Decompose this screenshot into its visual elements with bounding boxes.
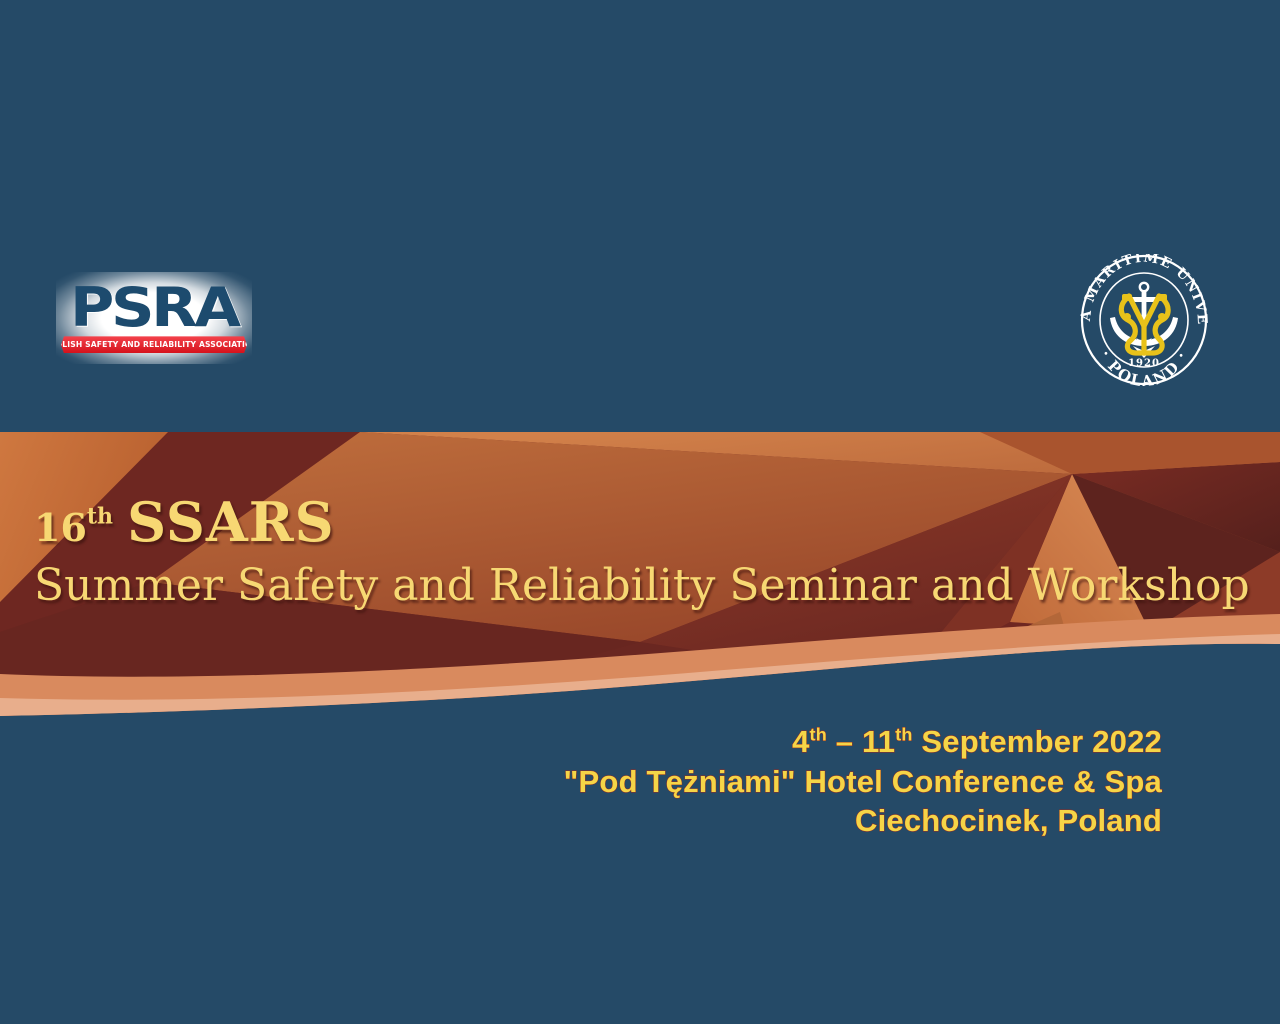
venue-hotel: "Pod Tężniami" Hotel Conference & Spa (564, 762, 1162, 802)
date-month-year: September 2022 (921, 724, 1162, 759)
venue-city: Ciechocinek, Poland (564, 801, 1162, 841)
date-day-start: 4 (792, 724, 809, 759)
conference-title-slide: PSRA POLISH SAFETY AND RELIABILITY ASSOC… (0, 0, 1280, 1024)
psra-tagline-text: POLISH SAFETY AND RELIABILITY ASSOCIATIO… (50, 340, 258, 349)
seal-year: 1920 (1128, 358, 1160, 369)
venue-block: 4th – 11th September 2022 "Pod Tężniami"… (564, 722, 1162, 841)
psra-tagline-banner: POLISH SAFETY AND RELIABILITY ASSOCIATIO… (61, 336, 247, 353)
psra-logo: PSRA POLISH SAFETY AND RELIABILITY ASSOC… (56, 272, 252, 364)
date-day-end-suffix: th (895, 725, 912, 745)
psra-wordmark: PSRA (70, 283, 238, 334)
gdynia-maritime-university-seal: GDYNIA MARITIME UNIVERSITY · POLAND · 19… (1074, 254, 1214, 386)
date-separator: – (836, 724, 853, 759)
psra-logo-content: PSRA POLISH SAFETY AND RELIABILITY ASSOC… (56, 272, 252, 364)
date-day-start-suffix: th (810, 725, 827, 745)
date-day-end: 11 (862, 724, 895, 759)
event-dates: 4th – 11th September 2022 (564, 722, 1162, 762)
decorative-banner (0, 432, 1280, 722)
